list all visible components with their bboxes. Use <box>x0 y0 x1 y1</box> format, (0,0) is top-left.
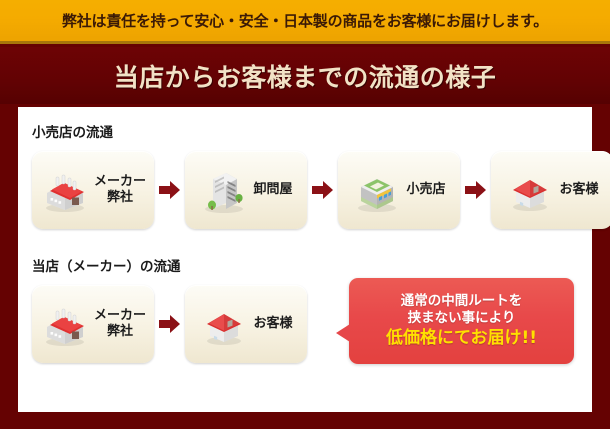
section-label-our-shop: 当店（メーカー）の流通 <box>32 255 307 275</box>
right-arrow-icon <box>460 180 491 200</box>
callout-line-2: 挟まない事により <box>408 310 516 327</box>
callout-line-3: 低価格にてお届け!! <box>386 328 537 349</box>
right-arrow-icon <box>307 180 338 200</box>
node-label-maker-direct: メーカー 弊社 <box>94 308 146 341</box>
node-label-retail-shop: 小売店 <box>406 182 445 198</box>
house-icon <box>505 165 555 215</box>
right-arrow-icon <box>154 180 185 200</box>
promotional-graphic: 弊社は責任を持って安心・安全・日本製の商品をお客様にお届けします。 当店からお客… <box>0 0 610 429</box>
page-title: 当店からお客様までの流通の様子 <box>114 58 497 94</box>
node-label-maker: メーカー 弊社 <box>94 174 146 207</box>
house-icon <box>199 299 249 349</box>
section-our-shop-distribution: 当店（メーカー）の流通 <box>32 255 307 363</box>
right-arrow-icon <box>154 314 185 334</box>
node-customer-direct: お客様 <box>185 285 307 363</box>
top-banner: 弊社は責任を持って安心・安全・日本製の商品をお客様にお届けします。 <box>0 0 610 44</box>
factory-icon <box>40 165 90 215</box>
retail-shop-icon <box>352 165 402 215</box>
content-panel: 小売店の流通 <box>18 107 592 412</box>
node-label-wholesaler: 卸問屋 <box>253 182 292 198</box>
node-retail-shop: 小売店 <box>338 151 460 229</box>
callout-line-1: 通常の中間ルートを <box>401 293 523 310</box>
flow-row-retail: メーカー 弊社 <box>32 151 610 229</box>
banner-text: 弊社は責任を持って安心・安全・日本製の商品をお客様にお届けします。 <box>62 10 548 31</box>
node-maker-direct: メーカー 弊社 <box>32 285 154 363</box>
node-maker: メーカー 弊社 <box>32 151 154 229</box>
price-callout: 通常の中間ルートを 挟まない事により 低価格にてお届け!! <box>349 278 574 364</box>
node-wholesaler: 卸問屋 <box>185 151 307 229</box>
node-label-customer: お客様 <box>559 182 598 198</box>
office-building-icon <box>199 165 249 215</box>
flow-row-our-shop: メーカー 弊社 <box>32 285 307 363</box>
node-customer: お客様 <box>491 151 610 229</box>
section-retail-distribution: 小売店の流通 <box>32 121 610 229</box>
section-label-retail: 小売店の流通 <box>32 121 610 141</box>
node-label-customer-direct: お客様 <box>253 316 292 332</box>
title-bar: 当店からお客様までの流通の様子 <box>0 47 610 104</box>
factory-icon <box>40 299 90 349</box>
